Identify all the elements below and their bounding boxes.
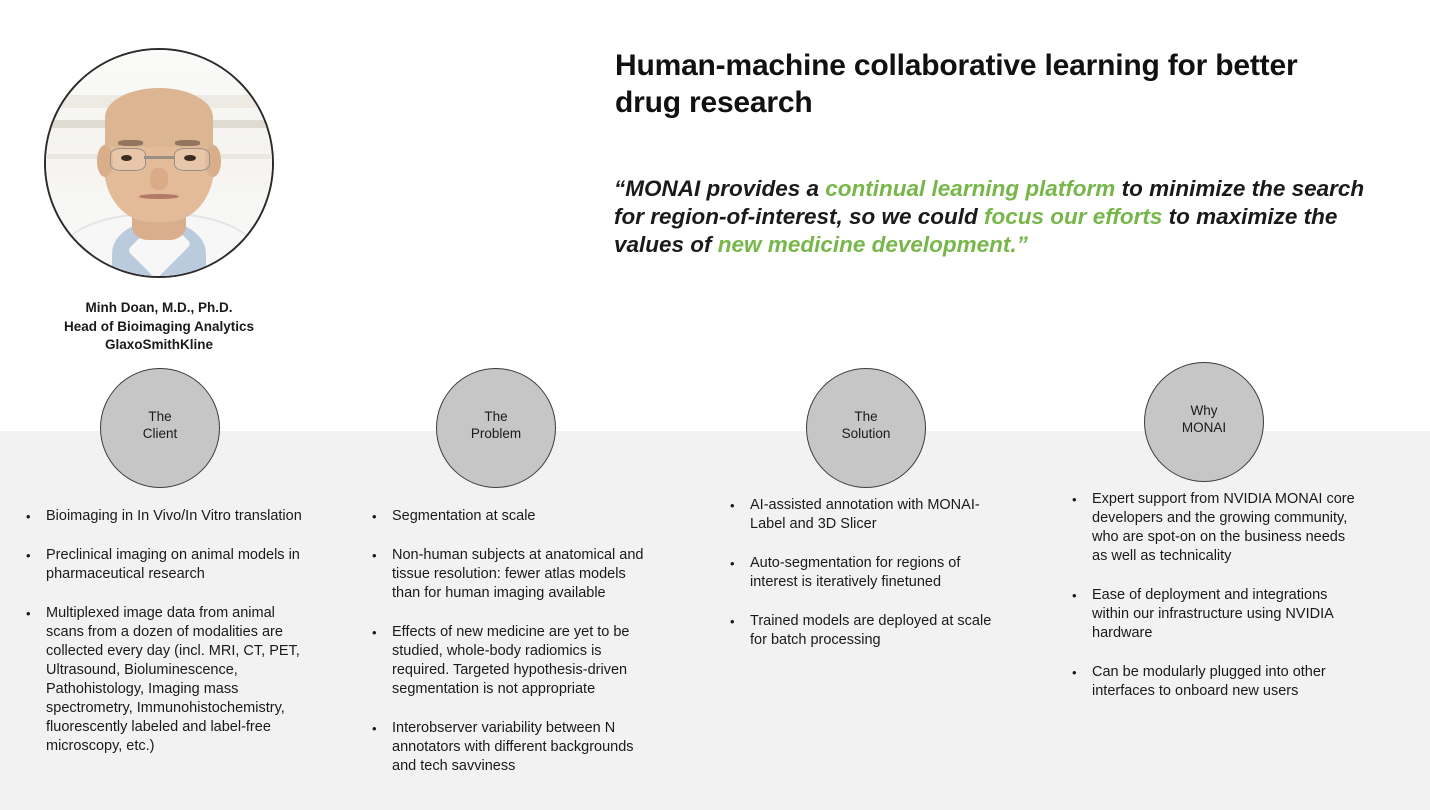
bullet-column-client: Bioimaging in In Vivo/In Vitro translati… [24,507,310,756]
quote-text: “MONAI provides a [614,176,825,201]
section-circle-label: The Solution [842,408,891,442]
speaker-organization: GlaxoSmithKline [14,336,304,355]
photo-eyeglass-bridge [144,156,173,159]
section-circle-solution: The Solution [806,368,926,488]
bullet-item: Auto-segmentation for regions of interes… [728,554,1010,592]
bullet-column-why-monai: Expert support from NVIDIA MONAI core de… [1070,490,1360,701]
section-circle-label: The Client [143,408,178,442]
bullet-column-problem: Segmentation at scaleNon-human subjects … [370,507,650,776]
bullet-item: Non-human subjects at anatomical and tis… [370,546,650,603]
photo-eyebrow-left [118,140,143,145]
section-circle-label: The Problem [471,408,521,442]
speaker-photo [44,48,274,278]
photo-scalp [105,88,213,147]
bullet-item: Can be modularly plugged into other inte… [1070,663,1360,701]
bullet-item: Trained models are deployed at scale for… [728,612,1010,650]
portrait-image [44,48,274,278]
bullet-item: Interobserver variability between N anno… [370,719,650,776]
quote-highlight: new medicine development.” [718,232,1028,257]
section-circle-label: Why MONAI [1182,402,1226,436]
section-circle-problem: The Problem [436,368,556,488]
bullet-item: Segmentation at scale [370,507,650,526]
speaker-title: Head of Bioimaging Analytics [14,318,304,337]
section-circle-client: The Client [100,368,220,488]
page-title: Human-machine collaborative learning for… [615,47,1355,121]
bullet-column-solution: AI-assisted annotation with MONAI-Label … [728,496,1010,650]
bullet-item: Bioimaging in In Vivo/In Vitro translati… [24,507,310,526]
bullet-item: Multiplexed image data from animal scans… [24,604,310,756]
photo-nose [150,168,168,191]
quote-highlight: focus our efforts [984,204,1162,229]
bullet-item: AI-assisted annotation with MONAI-Label … [728,496,1010,534]
photo-eyebrow-right [175,140,200,145]
bullet-item: Effects of new medicine are yet to be st… [370,623,650,699]
bullet-item: Preclinical imaging on animal models in … [24,546,310,584]
speaker-name: Minh Doan, M.D., Ph.D. [14,299,304,318]
section-circle-why-monai: Why MONAI [1144,362,1264,482]
speaker-attribution: Minh Doan, M.D., Ph.D. Head of Bioimagin… [14,299,304,355]
quote-highlight: continual learning platform [825,176,1115,201]
pull-quote: “MONAI provides a continual learning pla… [614,175,1382,259]
bullet-item: Expert support from NVIDIA MONAI core de… [1070,490,1360,566]
bullet-item: Ease of deployment and integrations with… [1070,586,1360,643]
